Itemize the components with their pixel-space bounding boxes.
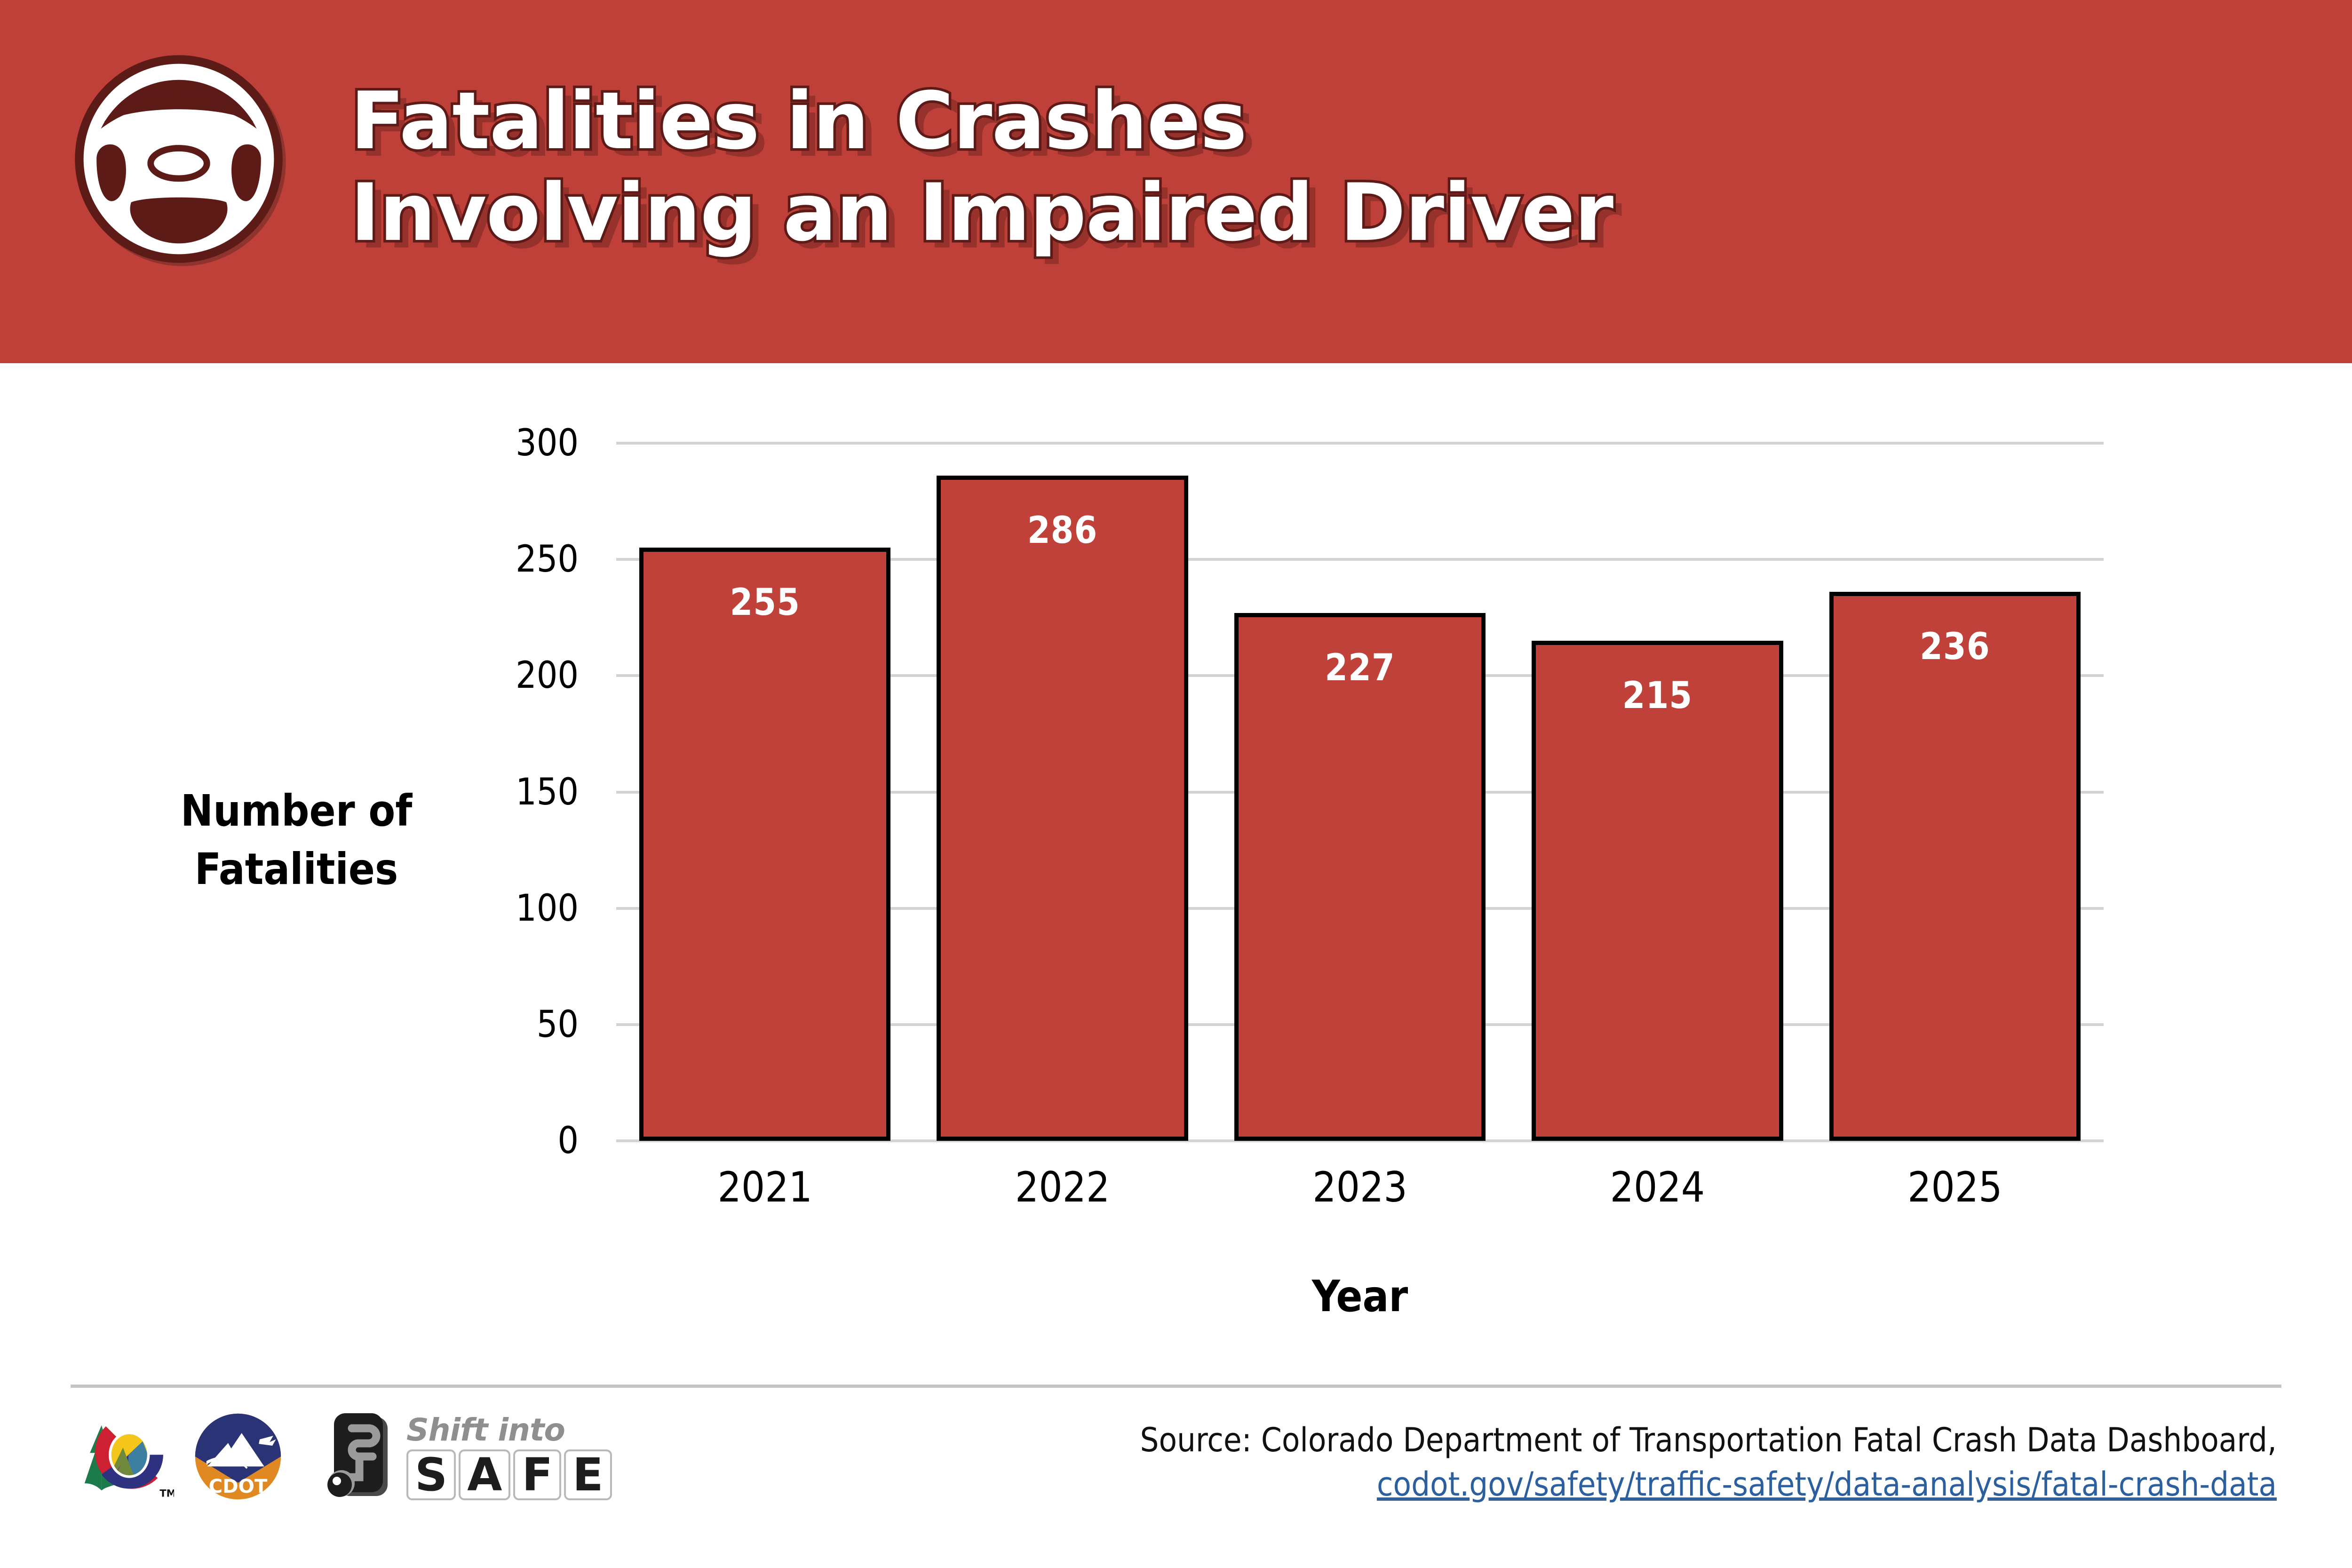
page-title: Fatalities in Crashes Involving an Impai…: [350, 75, 2185, 259]
x-tick-label-2023: 2023: [1211, 1163, 1509, 1211]
bar-2021[interactable]: [639, 548, 890, 1141]
x-tick-label-2024: 2024: [1509, 1163, 1806, 1211]
y-axis-tick-labels: 300250200150100500: [0, 443, 602, 1141]
source-citation: Source: Colorado Department of Transport…: [1140, 1418, 2277, 1507]
x-axis-tick-labels: 20212022202320242025: [616, 1163, 2104, 1219]
bar-chart: Number of Fatalities 300250200150100500 …: [0, 363, 2352, 1379]
bar-value-label-2021: 255: [639, 581, 890, 624]
bar-2025[interactable]: [1829, 592, 2081, 1141]
source-url-link[interactable]: codot.gov/safety/traffic-safety/data-ana…: [1140, 1463, 2277, 1507]
x-axis-title: Year: [616, 1271, 2104, 1321]
y-tick-label-0: 0: [557, 1120, 579, 1162]
y-tick-label-250: 250: [516, 538, 579, 581]
source-text: Source: Colorado Department of Transport…: [1140, 1421, 2277, 1459]
bar-2022[interactable]: [937, 476, 1188, 1141]
safe-letter-a: A: [459, 1449, 510, 1500]
bar-value-label-2023: 227: [1234, 647, 1486, 689]
gear-shift-icon: [326, 1410, 396, 1504]
title-line-2: Involving an Impaired Driver: [350, 167, 2185, 259]
steering-wheel-icon: [71, 51, 287, 267]
y-tick-label-200: 200: [516, 654, 579, 697]
footer: TM CDOT: [0, 1393, 2352, 1568]
safe-letter-s: S: [406, 1449, 456, 1500]
bar-value-label-2024: 215: [1532, 675, 1783, 717]
plot-area: 255286227215236: [616, 443, 2104, 1141]
y-tick-label-100: 100: [516, 887, 579, 930]
safe-letter-e: E: [564, 1449, 612, 1500]
y-tick-label-300: 300: [516, 422, 579, 464]
footer-divider: [71, 1385, 2281, 1388]
colorado-co-logo: TM: [80, 1412, 174, 1504]
bar-value-label-2025: 236: [1829, 626, 2081, 668]
shift-into-safe-logo: Shift into S A F E: [326, 1410, 612, 1504]
bar-value-label-2022: 286: [937, 509, 1188, 552]
x-tick-label-2021: 2021: [616, 1163, 914, 1211]
logo-row: TM CDOT: [80, 1410, 612, 1504]
infographic-page: Fatalities in Crashes Involving an Impai…: [0, 0, 2352, 1568]
shift-into-label: Shift into: [406, 1415, 612, 1446]
cdot-logo: CDOT: [193, 1411, 283, 1504]
trademark-label: TM: [159, 1488, 174, 1499]
title-line-1: Fatalities in Crashes: [350, 75, 2185, 167]
gridline-300: [616, 442, 2104, 445]
x-tick-label-2022: 2022: [914, 1163, 1211, 1211]
y-tick-label-150: 150: [516, 771, 579, 813]
header-banner: Fatalities in Crashes Involving an Impai…: [0, 0, 2352, 363]
cdot-logo-label: CDOT: [209, 1475, 268, 1497]
safe-letter-row: S A F E: [406, 1449, 612, 1500]
safe-letter-f: F: [513, 1449, 561, 1500]
x-tick-label-2025: 2025: [1806, 1163, 2104, 1211]
bar-2023[interactable]: [1234, 613, 1486, 1141]
y-tick-label-50: 50: [537, 1003, 579, 1046]
